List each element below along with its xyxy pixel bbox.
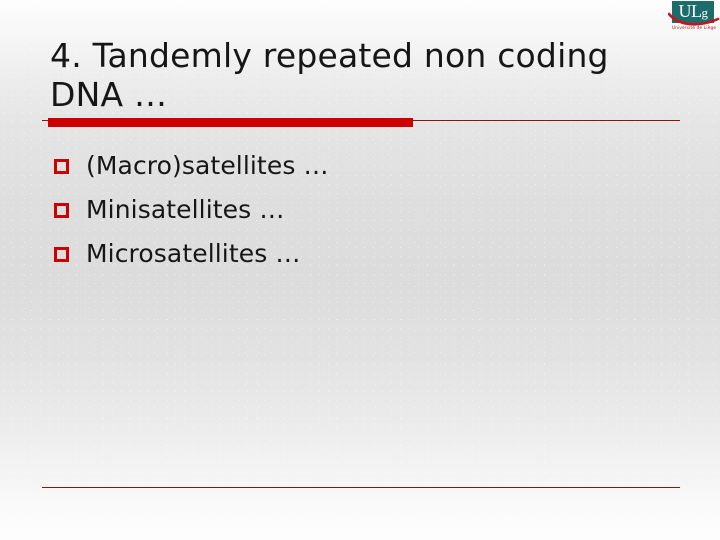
footer-rule: [42, 487, 680, 488]
red-square-bullet-icon: [54, 159, 69, 174]
list-item: Microsatellites …: [54, 232, 674, 276]
logo-subtitle: Université de Liège: [668, 25, 720, 30]
list-item: (Macro)satellites …: [54, 144, 674, 188]
red-square-bullet-icon: [54, 203, 69, 218]
ulg-logo: ULg Université de Liège: [668, 0, 720, 38]
list-item: Minisatellites …: [54, 188, 674, 232]
slide-title: 4. Tandemly repeated non coding DNA …: [50, 36, 650, 114]
slide-canvas: ULg Université de Liège 4. Tandemly repe…: [0, 0, 720, 540]
list-item-label: (Macro)satellites …: [86, 152, 329, 180]
list-item-label: Microsatellites …: [86, 240, 301, 268]
red-square-bullet-icon: [54, 247, 69, 262]
title-accent-bar: [48, 118, 413, 127]
bullet-list: (Macro)satellites … Minisatellites … Mic…: [54, 144, 674, 276]
list-item-label: Minisatellites …: [86, 196, 284, 224]
